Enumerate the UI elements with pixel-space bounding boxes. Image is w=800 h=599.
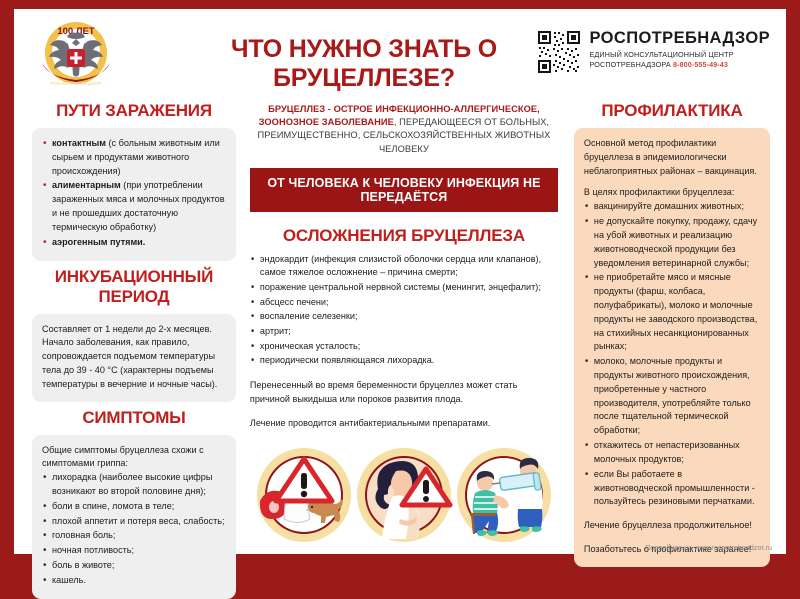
column-middle: БРУЦЕЛЛЕЗ - ОСТРОЕ ИНФЕКЦИОННО-АЛЛЕРГИЧЕ… bbox=[242, 95, 566, 599]
section-heading-prevention: ПРОФИЛАКТИКА bbox=[574, 101, 770, 121]
route-0-bold: контактным bbox=[52, 138, 106, 148]
brand-subtitle: ЕДИНЫЙ КОНСУЛЬТАЦИОННЫЙ ЦЕНТР РОСПОТРЕБН… bbox=[589, 50, 770, 69]
column-left: ПУТИ ЗАРАЖЕНИЯ контактным (с больным жив… bbox=[24, 95, 242, 599]
svg-text:РОСПОТРЕБНАДЗОР: РОСПОТРЕБНАДЗОР bbox=[51, 81, 102, 86]
page-title: ЧТО НУЖНО ЗНАТЬ О БРУЦЕЛЛЕЗЕ? bbox=[144, 35, 584, 93]
pregnancy-note: Перенесенный во время беременности бруце… bbox=[250, 379, 558, 406]
brand-sub-line-1: ЕДИНЫЙ КОНСУЛЬТАЦИОННЫЙ ЦЕНТР bbox=[589, 50, 770, 60]
section-heading-routes: ПУТИ ЗАРАЖЕНИЯ bbox=[32, 101, 236, 121]
list-item: молоко, молочные продукты и продукты жив… bbox=[584, 355, 760, 438]
list-item: артрит; bbox=[250, 325, 558, 339]
poster-inner-frame: 100 ЛЕТ РОСПОТРЕБНАД bbox=[14, 9, 786, 554]
list-item: вакцинируйте домашних животных; bbox=[584, 200, 760, 214]
treatment-duration-note: Лечение бруцеллеза продолжительное! bbox=[584, 519, 760, 533]
symptoms-card: Общие симптомы бруцеллеза схожи с симпто… bbox=[32, 435, 236, 599]
prevention-intro: Основной метод профилактики бруцеллеза в… bbox=[584, 137, 760, 178]
list-item: откажитесь от непастеризованных молочных… bbox=[584, 439, 760, 467]
rospotrebnadzor-emblem-icon: 100 ЛЕТ РОСПОТРЕБНАД bbox=[34, 17, 118, 95]
list-item: боль в животе; bbox=[42, 559, 226, 573]
prevention-list-intro: В целях профилактики бруцеллеза: bbox=[584, 186, 760, 200]
list-item: воспаление селезенки; bbox=[250, 310, 558, 324]
list-item: плохой аппетит и потеря веса, слабость; bbox=[42, 515, 226, 529]
complications-list: эндокардит (инфекция слизистой оболочки … bbox=[250, 253, 558, 368]
list-item: если Вы работаете в животноводческой про… bbox=[584, 468, 760, 509]
brand-text: РОСПОТРЕБНАДЗОР ЕДИНЫЙ КОНСУЛЬТАЦИОННЫЙ … bbox=[589, 29, 770, 70]
route-1-bold: алиментарным bbox=[52, 180, 121, 190]
list-item: поражение центральной нервной системы (м… bbox=[250, 281, 558, 295]
section-heading-incubation: ИНКУБАЦИОННЫЙ ПЕРИОД bbox=[32, 267, 236, 307]
list-item: ночная потливость; bbox=[42, 544, 226, 558]
list-item: эндокардит (инфекция слизистой оболочки … bbox=[250, 253, 558, 280]
incubation-text: Составляет от 1 недели до 2-х месяцев. Н… bbox=[42, 323, 226, 392]
pregnant-woman-warning-illustration bbox=[354, 445, 454, 545]
list-item: боли в спине, ломота в теле; bbox=[42, 500, 226, 514]
list-item: не допускайте покупку, продажу, сдачу на… bbox=[584, 215, 760, 270]
no-human-transmission-banner: ОТ ЧЕЛОВЕКА К ЧЕЛОВЕКУ ИНФЕКЦИЯ НЕ ПЕРЕД… bbox=[250, 168, 558, 212]
footer-url[interactable]: Подробнее на www.rospotrebnadzor.ru bbox=[645, 545, 772, 552]
list-item: алиментарным (при употреблении зараженны… bbox=[42, 179, 226, 234]
treatment-note: Лечение проводится антибактериальными пр… bbox=[250, 417, 558, 431]
brand-sub-line-2: РОСПОТРЕБНАДЗОРА bbox=[589, 60, 670, 69]
section-heading-symptoms: СИМПТОМЫ bbox=[32, 408, 236, 428]
routes-list: контактным (с больным животным или сырье… bbox=[42, 137, 226, 250]
list-item: хроническая усталость; bbox=[250, 340, 558, 354]
brand-sub-line-2-row: РОСПОТРЕБНАДЗОРА 8-800-555-49-43 bbox=[589, 60, 770, 70]
list-item: головная боль; bbox=[42, 529, 226, 543]
prevention-card: Основной метод профилактики бруцеллеза в… bbox=[574, 128, 770, 567]
list-item: абсцесс печени; bbox=[250, 296, 558, 310]
illustration-row bbox=[250, 445, 558, 545]
brand-name: РОСПОТРЕБНАДЗОР bbox=[589, 30, 770, 47]
section-heading-complications: ОСЛОЖНЕНИЯ БРУЦЕЛЛЕЗА bbox=[250, 226, 558, 246]
vaccination-illustration bbox=[454, 445, 554, 545]
list-item: не приобретайте мясо и мясные продукты (… bbox=[584, 271, 760, 354]
list-item: аэрогенным путями. bbox=[42, 236, 226, 250]
list-item: кашель. bbox=[42, 574, 226, 588]
list-item: периодически появляющаяся лихорадка. bbox=[250, 354, 558, 368]
list-item: контактным (с больным животным или сырье… bbox=[42, 137, 226, 178]
routes-card: контактным (с больным животным или сырье… bbox=[32, 128, 236, 261]
poster-root: 100 ЛЕТ РОСПОТРЕБНАД bbox=[0, 0, 800, 565]
symptoms-intro: Общие симптомы бруцеллеза схожи с симпто… bbox=[42, 444, 226, 472]
list-item: лихорадка (наиболее высокие цифры возник… bbox=[42, 471, 226, 499]
incubation-card: Составляет от 1 недели до 2-х месяцев. Н… bbox=[32, 314, 236, 402]
qr-code-icon[interactable] bbox=[536, 29, 582, 75]
symptoms-list: лихорадка (наиболее высокие цифры возник… bbox=[42, 471, 226, 588]
meat-milk-dog-warning-illustration bbox=[254, 445, 354, 545]
content-columns: ПУТИ ЗАРАЖЕНИЯ контактным (с больным жив… bbox=[24, 95, 776, 599]
disease-definition: БРУЦЕЛЛЕЗ - ОСТРОЕ ИНФЕКЦИОННО-АЛЛЕРГИЧЕ… bbox=[250, 103, 558, 156]
complications-body: эндокардит (инфекция слизистой оболочки … bbox=[250, 253, 558, 431]
poster-header: 100 ЛЕТ РОСПОТРЕБНАД bbox=[24, 15, 776, 93]
column-right: ПРОФИЛАКТИКА Основной метод профилактики… bbox=[566, 95, 776, 599]
brand-block: РОСПОТРЕБНАДЗОР ЕДИНЫЙ КОНСУЛЬТАЦИОННЫЙ … bbox=[536, 29, 770, 75]
route-2-bold: аэрогенным путями. bbox=[52, 237, 145, 247]
hotline-phone[interactable]: 8-800-555-49-43 bbox=[673, 60, 728, 69]
prevention-list: вакцинируйте домашних животных; не допус… bbox=[584, 200, 760, 509]
